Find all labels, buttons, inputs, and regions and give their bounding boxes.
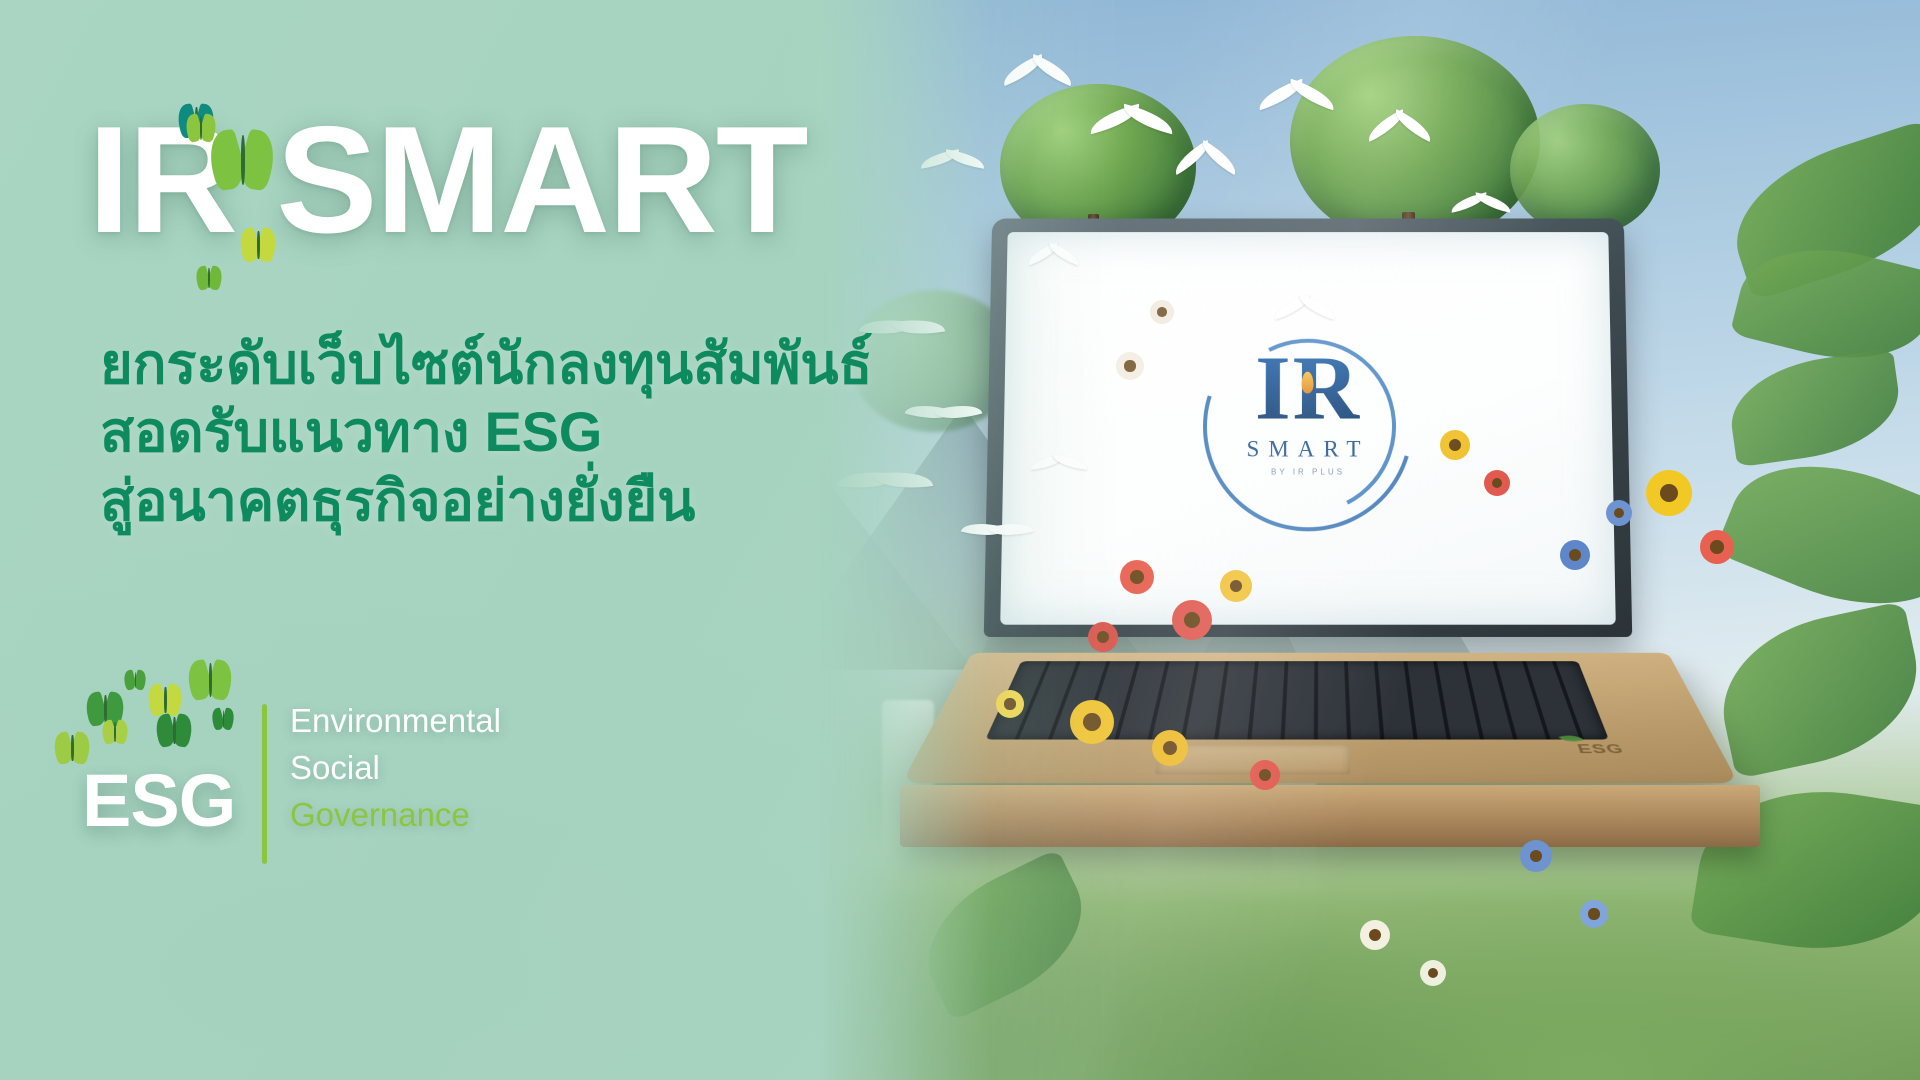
flower-icon	[1646, 470, 1692, 516]
subtitle-line-2: สอดรับแนวทาง ESG	[100, 398, 872, 466]
subtitle-line-3: สู่อนาคตธุรกิจอย่างยั่งยืน	[100, 467, 872, 535]
butterfly-icon	[212, 708, 234, 730]
flower-icon	[1360, 920, 1390, 950]
esg-acronym: ESG	[82, 758, 235, 843]
flower-icon	[1150, 300, 1174, 324]
esg-line-social: Social	[290, 745, 501, 792]
butterfly-icon	[240, 228, 276, 262]
ir-smart-logo: IR SMART BY IR PLUS	[1246, 345, 1369, 476]
flower-icon	[1250, 760, 1280, 790]
flower-icon	[1580, 900, 1608, 928]
logo-tagline-text: BY IR PLUS	[1246, 467, 1369, 476]
laptop-base: ESG	[902, 653, 1739, 783]
flower-icon	[996, 690, 1024, 718]
butterfly-icon	[102, 720, 128, 744]
butterfly-icon	[186, 114, 216, 142]
flower-icon	[1152, 730, 1188, 766]
flower-icon	[1120, 560, 1154, 594]
butterfly-icon	[156, 714, 192, 747]
laptop-lid: IR SMART BY IR PLUS	[984, 218, 1632, 636]
flower-icon	[1172, 600, 1212, 640]
banner-canvas: IR SMART BY IR PLUS ESG	[0, 0, 1920, 1080]
esg-lockup: ESG Environmental Social Governance	[52, 676, 482, 866]
flower-icon	[1220, 570, 1252, 602]
butterfly-icon	[148, 684, 182, 716]
flower-icon	[1420, 960, 1446, 986]
esg-line-environmental: Environmental	[290, 698, 501, 745]
laptop-screen: IR SMART BY IR PLUS	[1000, 232, 1616, 625]
logo-secondary-text: SMART	[1246, 436, 1369, 462]
esg-text-block: Environmental Social Governance	[290, 698, 501, 839]
nature-laptop-photo: IR SMART BY IR PLUS ESG	[820, 0, 1920, 1080]
butterfly-icon	[124, 670, 146, 690]
flower-icon	[1440, 430, 1470, 460]
butterfly-icon	[210, 130, 274, 190]
butterfly-icon	[196, 266, 222, 290]
flower-icon	[1520, 840, 1552, 872]
flower-icon	[1606, 500, 1632, 526]
flame-icon	[1302, 371, 1314, 393]
flower-icon	[1484, 470, 1510, 496]
esg-divider	[262, 704, 267, 864]
flower-icon	[1088, 622, 1118, 652]
flower-icon	[1070, 700, 1114, 744]
flower-icon	[1560, 540, 1590, 570]
flower-icon	[1700, 530, 1734, 564]
laptop-esg-badge: ESG	[1575, 742, 1626, 757]
subtitle-line-1: ยกระดับเว็บไซต์นักลงทุนสัมพันธ์	[100, 330, 872, 398]
esg-line-governance: Governance	[290, 792, 501, 839]
flower-icon	[1116, 352, 1144, 380]
subtitle-block: ยกระดับเว็บไซต์นักลงทุนสัมพันธ์ สอดรับแน…	[100, 330, 872, 535]
wooden-desk	[900, 785, 1760, 847]
butterfly-icon	[188, 660, 232, 700]
